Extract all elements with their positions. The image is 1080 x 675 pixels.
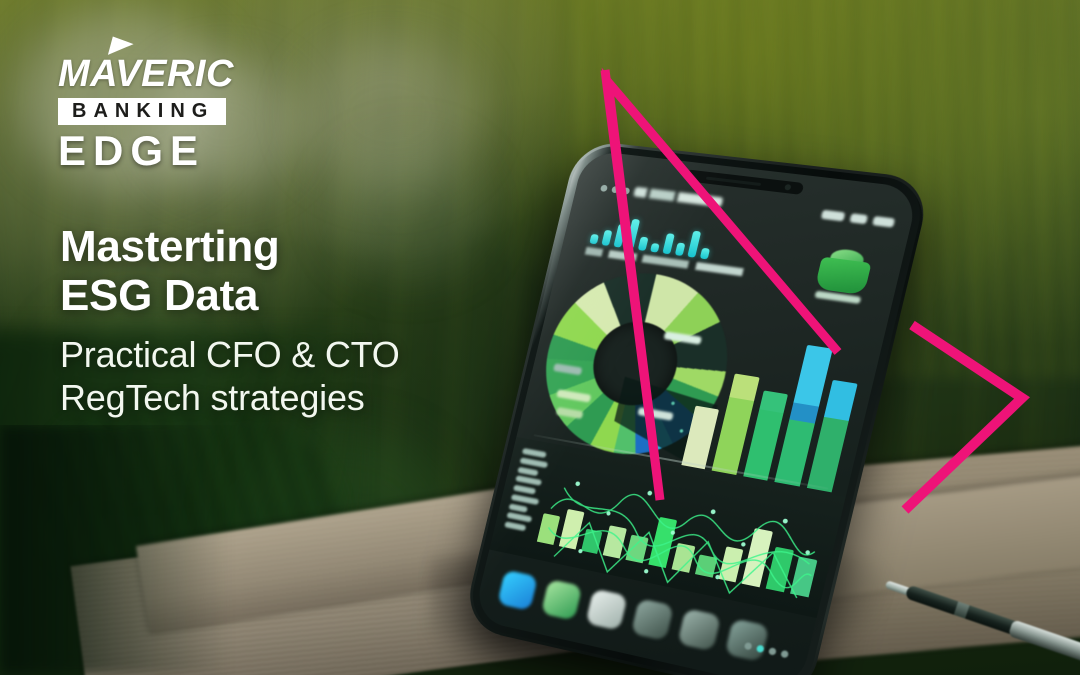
status-bar	[821, 210, 895, 228]
logo-maveric-text: MAVERIC	[58, 55, 258, 93]
brand-logo: MAVERIC BANKING EDGE	[58, 55, 258, 172]
dashboard-top-section	[517, 174, 913, 493]
headline-line-1: Masterting	[60, 222, 540, 271]
globe-icon[interactable]	[677, 608, 721, 651]
dashboard-title	[633, 187, 723, 207]
logo-banking-band: BANKING	[58, 98, 226, 125]
menu-dots-icon[interactable]	[600, 185, 630, 195]
compass-icon[interactable]	[497, 570, 538, 611]
leaf-icon[interactable]	[541, 579, 583, 621]
eco-finance-badge-icon[interactable]	[809, 246, 880, 300]
headline-block: Masterting ESG Data Practical CFO & CTO …	[60, 222, 540, 419]
camera-icon[interactable]	[631, 598, 674, 641]
logo-edge-text: EDGE	[58, 130, 258, 172]
table-vignette	[0, 425, 230, 675]
logo-banking-text: BANKING	[72, 100, 214, 122]
headline-line-3: Practical CFO & CTO	[60, 333, 540, 376]
earpiece-speaker	[706, 177, 761, 186]
headline-line-4: RegTech strategies	[60, 376, 540, 419]
banner-canvas: MAVERIC BANKING EDGE Masterting ESG Data…	[0, 0, 1080, 675]
settings-icon[interactable]	[725, 618, 770, 662]
wifi-icon	[849, 213, 868, 224]
note-icon[interactable]	[585, 589, 627, 631]
front-camera-icon	[784, 184, 791, 191]
battery-icon	[872, 216, 895, 228]
bag-icon	[815, 257, 872, 296]
signal-icon	[821, 210, 846, 222]
headline-line-2: ESG Data	[60, 271, 540, 320]
